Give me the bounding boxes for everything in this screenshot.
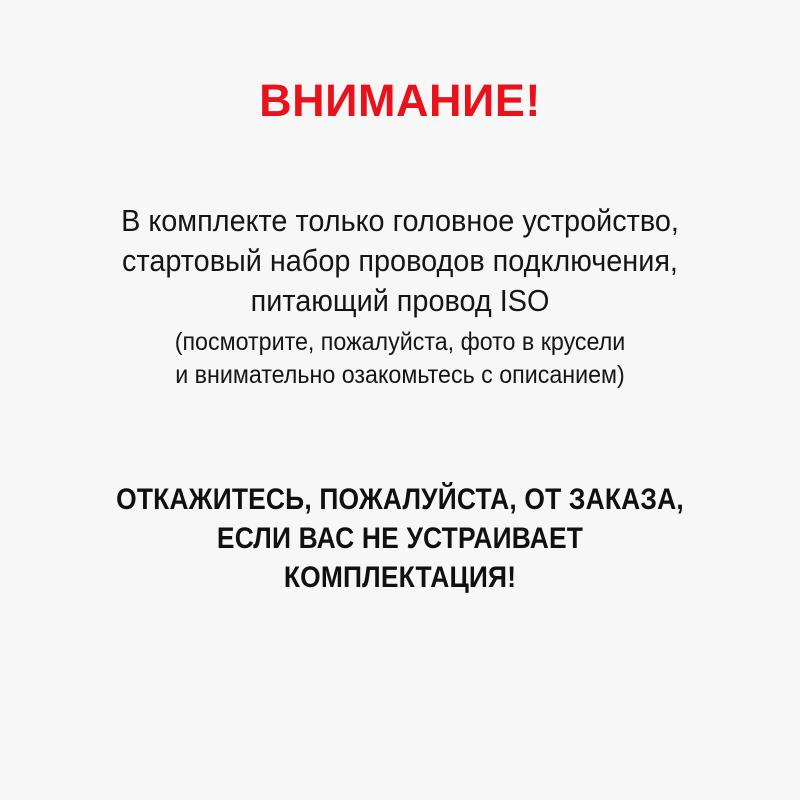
footer-line: КОМПЛЕКТАЦИЯ!	[74, 558, 725, 597]
note-text-block: (посмотрите, пожалуйста, фото в крусели …	[40, 326, 760, 392]
note-line: (посмотрите, пожалуйста, фото в крусели	[65, 326, 735, 359]
body-line: В комплекте только головное устройство,	[65, 201, 735, 241]
footer-line: ЕСЛИ ВАС НЕ УСТРАИВАЕТ	[74, 519, 725, 558]
body-text-block: В комплекте только головное устройство, …	[40, 201, 760, 392]
notice-card: ВНИМАНИЕ! В комплекте только головное ус…	[0, 0, 800, 800]
body-line: питающий провод ISO	[65, 281, 735, 321]
headline-warning: ВНИМАНИЕ!	[259, 78, 541, 123]
note-line: и внимательно озакомьтесь с описанием)	[65, 359, 735, 392]
body-line: стартовый набор проводов подключения,	[65, 241, 735, 281]
footer-text-block: ОТКАЖИТЕСЬ, ПОЖАЛУЙСТА, ОТ ЗАКАЗА, ЕСЛИ …	[30, 480, 770, 597]
footer-line: ОТКАЖИТЕСЬ, ПОЖАЛУЙСТА, ОТ ЗАКАЗА,	[74, 480, 725, 519]
